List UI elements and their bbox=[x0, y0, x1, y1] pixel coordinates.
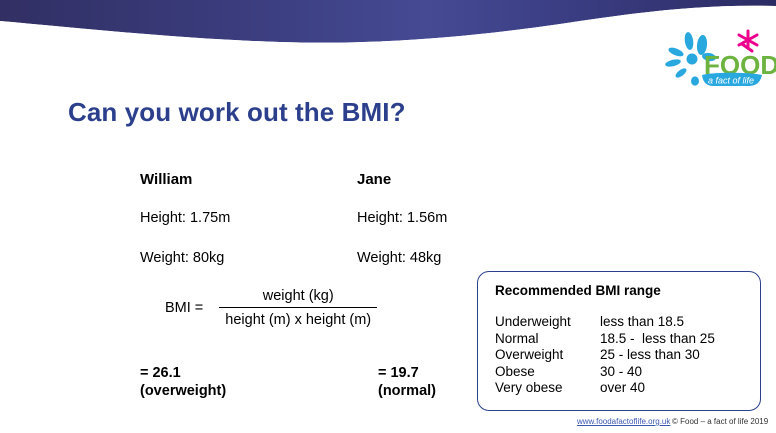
answer-category: (normal) bbox=[378, 383, 436, 401]
person-weight: Weight: 48kg bbox=[357, 251, 447, 266]
footer-website-link[interactable]: www.foodafactoflife.org.uk bbox=[577, 417, 670, 426]
person-card-william: William Height: 1.75m Weight: 80kg bbox=[140, 172, 230, 290]
bmi-category: Obese bbox=[495, 364, 600, 381]
bmi-range-value: 30 - 40 bbox=[600, 364, 715, 381]
bmi-range-value: 18.5 - less than 25 bbox=[600, 331, 715, 348]
person-height: Height: 1.75m bbox=[140, 211, 230, 226]
formula-label: BMI = bbox=[165, 300, 203, 316]
bmi-category: Overweight bbox=[495, 347, 600, 364]
bmi-range-value: less than 18.5 bbox=[600, 314, 715, 331]
bmi-category: Underweight bbox=[495, 314, 600, 331]
answer-value: = 26.1 bbox=[140, 365, 226, 383]
bmi-formula: BMI = weight (kg) height (m) x height (m… bbox=[165, 288, 377, 328]
bmi-range-box: Recommended BMI range Underweight less t… bbox=[477, 271, 761, 411]
bmi-category: Very obese bbox=[495, 380, 600, 397]
bmi-range-value: 25 - less than 30 bbox=[600, 347, 715, 364]
table-row: Underweight less than 18.5 bbox=[495, 314, 715, 331]
bmi-range-table: Underweight less than 18.5 Normal 18.5 -… bbox=[495, 314, 715, 397]
bmi-range-title: Recommended BMI range bbox=[495, 283, 661, 298]
person-name: William bbox=[140, 172, 230, 187]
brand-logo: FOOD a fact of life bbox=[664, 26, 776, 92]
person-height: Height: 1.56m bbox=[357, 211, 447, 226]
answer-william: = 26.1 (overweight) bbox=[140, 365, 226, 400]
answer-value: = 19.7 bbox=[378, 365, 436, 383]
person-weight: Weight: 80kg bbox=[140, 251, 230, 266]
bmi-range-value: over 40 bbox=[600, 380, 715, 397]
page-title: Can you work out the BMI? bbox=[68, 97, 406, 128]
header-wave-banner bbox=[0, 0, 776, 52]
footer-copyright: © Food – a fact of life 2019 bbox=[672, 417, 768, 426]
table-row: Normal 18.5 - less than 25 bbox=[495, 331, 715, 348]
answer-jane: = 19.7 (normal) bbox=[378, 365, 436, 400]
table-row: Overweight 25 - less than 30 bbox=[495, 347, 715, 364]
logo-tagline: a fact of life bbox=[708, 76, 754, 86]
formula-numerator: weight (kg) bbox=[253, 288, 344, 307]
answer-category: (overweight) bbox=[140, 383, 226, 401]
person-card-jane: Jane Height: 1.56m Weight: 48kg bbox=[357, 172, 447, 290]
table-row: Very obese over 40 bbox=[495, 380, 715, 397]
formula-denominator: height (m) x height (m) bbox=[219, 308, 377, 328]
bmi-category: Normal bbox=[495, 331, 600, 348]
table-row: Obese 30 - 40 bbox=[495, 364, 715, 381]
formula-fraction: weight (kg) height (m) x height (m) bbox=[219, 288, 377, 328]
person-name: Jane bbox=[357, 172, 447, 187]
